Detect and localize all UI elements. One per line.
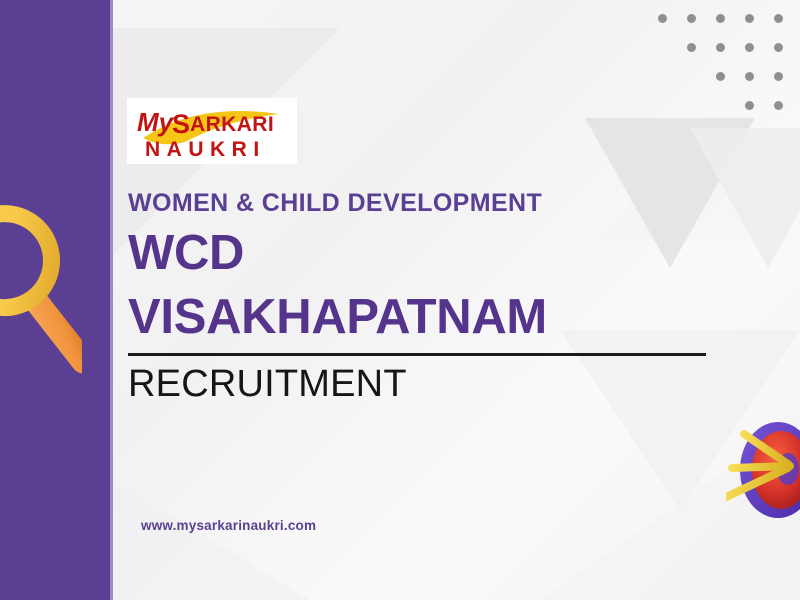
grid-dot bbox=[745, 72, 754, 81]
sidebar-edge-line bbox=[110, 0, 113, 600]
recruitment-banner: My S ARKARI NAUKRI WOMEN & CHILD DEVELOP… bbox=[0, 0, 800, 600]
department-subtitle: WOMEN & CHILD DEVELOPMENT bbox=[128, 190, 728, 218]
title-line-2: VISAKHAPATNAM bbox=[128, 289, 728, 346]
grid-dot bbox=[774, 72, 783, 81]
svg-text:ARKARI: ARKARI bbox=[190, 113, 274, 136]
svg-text:S: S bbox=[172, 109, 190, 139]
headline-block: WOMEN & CHILD DEVELOPMENT WCD VISAKHAPAT… bbox=[128, 190, 728, 406]
grid-dot bbox=[716, 14, 725, 23]
grid-dot bbox=[687, 14, 696, 23]
title-line-1: WCD bbox=[128, 225, 728, 282]
grid-dot bbox=[658, 14, 667, 23]
grid-dot bbox=[687, 43, 696, 52]
grid-dot bbox=[774, 101, 783, 110]
target-arrows-icon bbox=[726, 412, 800, 530]
svg-text:My: My bbox=[137, 107, 175, 137]
magnifier-icon bbox=[0, 196, 82, 411]
recruitment-label: RECRUITMENT bbox=[128, 364, 728, 406]
grid-dot bbox=[774, 43, 783, 52]
grid-dot bbox=[745, 43, 754, 52]
background-wedge-bottom-left bbox=[110, 480, 310, 600]
grid-dot bbox=[745, 101, 754, 110]
grid-dot bbox=[745, 14, 754, 23]
site-logo[interactable]: My S ARKARI NAUKRI bbox=[127, 98, 297, 164]
dot-grid-decoration bbox=[658, 14, 800, 119]
grid-dot bbox=[774, 14, 783, 23]
grid-dot bbox=[716, 72, 725, 81]
divider-rule bbox=[128, 353, 706, 356]
grid-dot bbox=[716, 43, 725, 52]
svg-text:NAUKRI: NAUKRI bbox=[145, 138, 266, 161]
website-url[interactable]: www.mysarkarinaukri.com bbox=[141, 518, 316, 533]
